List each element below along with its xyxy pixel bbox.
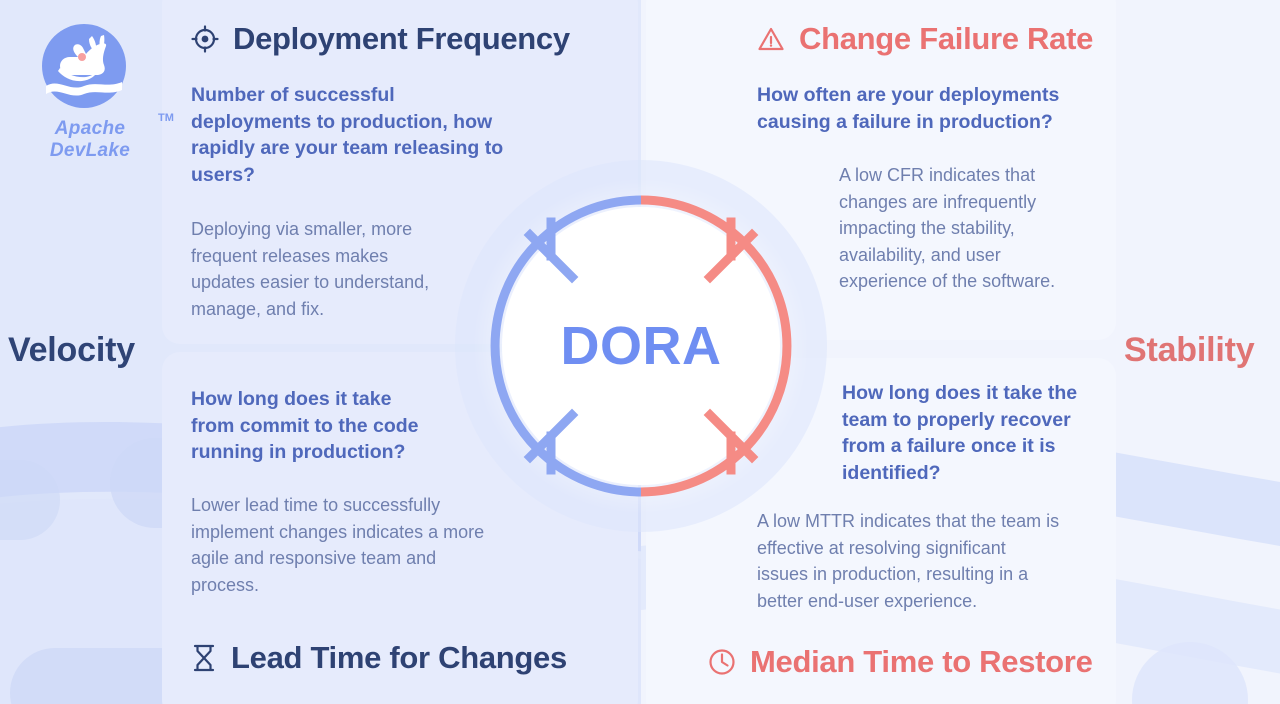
heading-change-failure-rate: Change Failure Rate xyxy=(757,21,1093,57)
change-failure-rate-lead: How often are your deployments causing a… xyxy=(757,82,1097,135)
label-stability: Stability xyxy=(1124,331,1254,370)
deployment-frequency-description: Deploying via smaller, more frequent rel… xyxy=(191,216,491,322)
metric-title: Change Failure Rate xyxy=(799,21,1093,57)
heading-median-time-to-restore: Median Time to Restore xyxy=(708,644,1093,680)
metric-title: Median Time to Restore xyxy=(750,644,1093,680)
median-time-to-restore-lead: How long does it take the team to proper… xyxy=(842,380,1132,486)
warning-triangle-icon xyxy=(757,25,785,53)
target-icon xyxy=(191,25,219,53)
metric-title: Deployment Frequency xyxy=(233,21,570,57)
clock-icon xyxy=(708,648,736,676)
hourglass-icon xyxy=(191,643,217,673)
label-velocity: Velocity xyxy=(8,331,135,370)
trademark-mark: TM xyxy=(158,112,174,124)
change-failure-rate-description: A low CFR indicates that changes are inf… xyxy=(839,162,1109,295)
devlake-rabbit-logo-icon xyxy=(34,16,134,116)
logo-wordmark: Apache DevLake xyxy=(20,118,160,162)
metric-title: Lead Time for Changes xyxy=(231,640,567,676)
heading-lead-time-for-changes: Lead Time for Changes xyxy=(191,640,567,676)
heading-deployment-frequency: Deployment Frequency xyxy=(191,21,570,57)
apache-devlake-logo[interactable]: Apache DevLake TM xyxy=(14,16,154,136)
dora-center-dial: DORA xyxy=(455,160,827,532)
dora-infographic: Deployment Frequency Number of successfu… xyxy=(0,0,1280,704)
dora-label: DORA xyxy=(455,160,827,532)
